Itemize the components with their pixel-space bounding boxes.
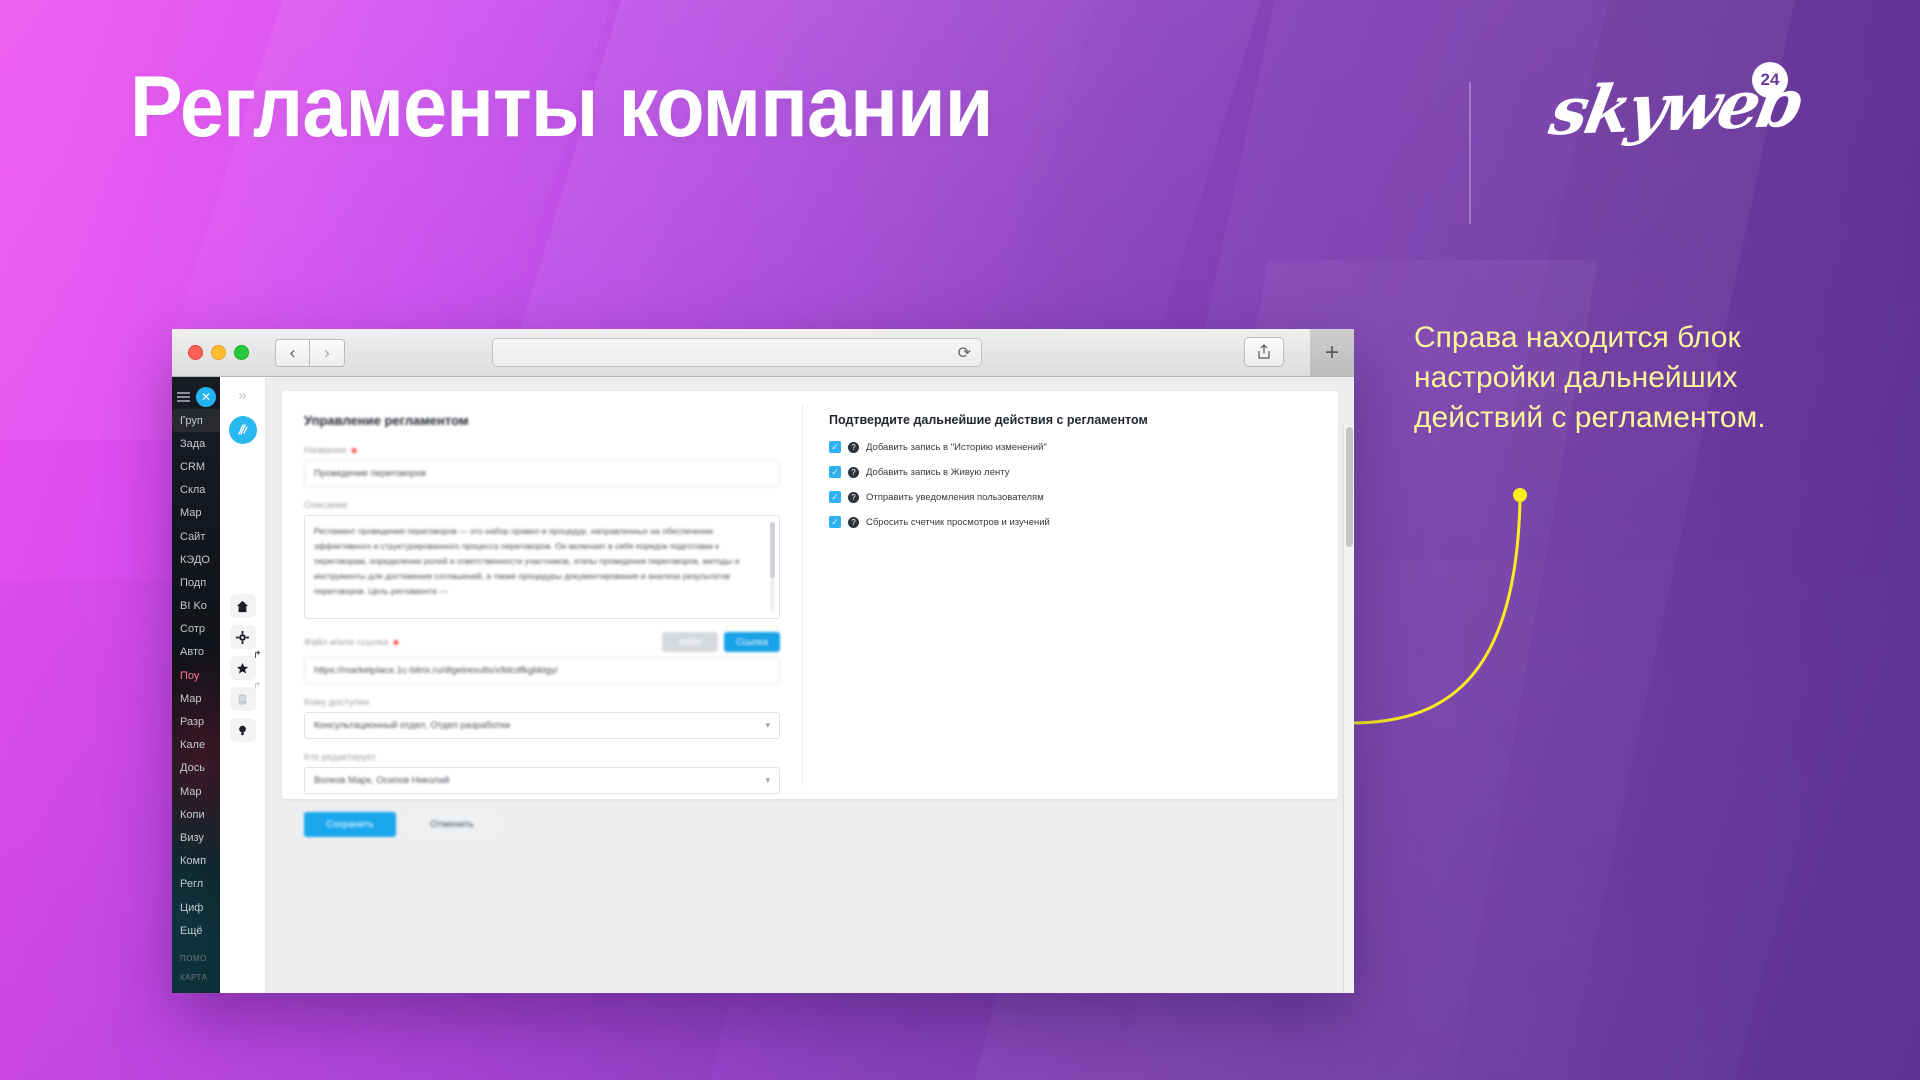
action-label: Сбросить счетчик просмотров и изучений [866,517,1050,528]
sidebar-item[interactable]: Груп [172,409,220,432]
chevron-down-icon: ▾ [765,720,770,731]
description-text: Регламент проведения переговоров — это н… [314,524,763,598]
save-button[interactable]: Сохранить [304,812,396,837]
editors-label: Кто редактирует [304,752,780,763]
access-label: Кому доступен [304,697,780,708]
reload-icon[interactable]: ⟳ [958,343,971,363]
star-icon[interactable]: ↱ [230,656,256,680]
actions-panel: Подтвердите дальнейшие действия с реглам… [803,391,1338,799]
page-scrollbar[interactable] [1343,425,1354,993]
sidebar-item[interactable]: Сайт [172,525,220,548]
external-link-arrow-icon: ↱ [253,681,261,692]
rail-icon-group: ↱ ↱ [230,594,256,742]
name-field-group: Название ● Проведение переговоров [304,444,780,487]
chevron-down-icon: ▾ [765,775,770,786]
sidebar-item[interactable]: Зада [172,432,220,455]
sidebar-item[interactable]: Комп [172,850,220,873]
sidebar-item[interactable]: Регл [172,873,220,896]
description-field-group: Описание Регламент проведения переговоро… [304,500,780,619]
access-field-group: Кому доступен Консультационный отдел, От… [304,697,780,739]
action-row[interactable]: ✓ ? Добавить запись в Живую ленту [829,466,1316,478]
sidebar-item[interactable]: Скла [172,479,220,502]
page-title: Регламенты компании [130,64,992,150]
file-link-label: Файл и/или ссылка ● [304,636,400,648]
back-button[interactable]: ‹ [275,339,310,367]
sidebar-close-button[interactable]: ✕ [196,387,216,407]
sidebar-item[interactable]: Авто [172,641,220,664]
regulation-form: Управление регламентом Название ● Провед… [282,391,802,799]
zoom-window-button[interactable] [234,345,249,360]
new-tab-button[interactable]: + [1310,329,1354,376]
sidebar-item[interactable]: Дось [172,757,220,780]
cancel-button[interactable]: Отменить [406,812,498,837]
action-row[interactable]: ✓ ? Сбросить счетчик просмотров и изучен… [829,516,1316,528]
required-marker: ● [350,444,357,456]
lightbulb-icon[interactable] [230,718,256,742]
sidebar-item[interactable]: Подп [172,571,220,594]
form-actions: Сохранить Отменить [304,812,780,837]
textarea-scrollbar[interactable] [770,522,775,612]
logo-badge-24: 24 [1752,62,1788,98]
checkbox-checked[interactable]: ✓ [829,516,841,528]
sidebar-footer-link[interactable]: ПОМО [180,954,220,963]
external-link-arrow-icon: ↱ [253,650,261,661]
callout-text: Справа находится блок настройки дальнейш… [1414,318,1864,438]
help-icon[interactable]: ? [848,492,859,503]
close-window-button[interactable] [188,345,203,360]
action-label: Добавить запись в "Историю изменений" [866,442,1047,453]
sidebar-item[interactable]: Циф [172,896,220,919]
share-button[interactable] [1244,337,1284,367]
callout-line: Справа находится блок [1414,318,1864,358]
file-link-field-group: Файл и/или ссылка ● Файл Ссылка https://… [304,632,780,684]
checkbox-checked[interactable]: ✓ [829,466,841,478]
checkbox-checked[interactable]: ✓ [829,441,841,453]
sidebar-item[interactable]: CRM [172,455,220,478]
sidebar-footer: ПОМО КАРТА [172,954,220,982]
bitrix-logo-icon [235,422,251,438]
rail-collapse-icon[interactable]: » [238,387,246,404]
rail-avatar[interactable] [229,416,257,444]
sidebar-item[interactable]: BI Ko [172,595,220,618]
action-label: Добавить запись в Живую ленту [866,467,1009,478]
minimize-window-button[interactable] [211,345,226,360]
sidebar-item[interactable]: Копи [172,803,220,826]
menu-burger-icon[interactable] [177,392,190,402]
name-label-text: Название [304,445,346,456]
regulation-card: Управление регламентом Название ● Провед… [282,391,1338,799]
name-label: Название ● [304,444,780,456]
file-link-toggle[interactable]: Файл Ссылка [662,632,780,652]
action-label: Отправить уведомления пользователям [866,492,1044,503]
document-icon[interactable]: ↱ [230,687,256,711]
file-link-label-text: Файл и/или ссылка [304,637,388,648]
page-viewport: ✕ Груп Зада CRM Скла Мар Сайт КЭДО Подп … [172,377,1354,993]
description-textarea[interactable]: Регламент проведения переговоров — это н… [304,515,780,619]
browser-toolbar: ‹ › ⟳ + [172,329,1354,377]
editors-select[interactable]: Волков Марк, Осипов Николай ▾ [304,767,780,794]
share-icon [1257,344,1271,360]
window-traffic-lights[interactable] [188,345,249,360]
sidebar-item[interactable]: Визу [172,826,220,849]
sidebar-item[interactable]: Поу [172,664,220,687]
action-row[interactable]: ✓ ? Добавить запись в "Историю изменений… [829,441,1316,453]
sidebar-item[interactable]: Ещё [172,919,220,942]
gear-icon[interactable] [230,625,256,649]
bitrix-sidebar[interactable]: ✕ Груп Зада CRM Скла Мар Сайт КЭДО Подп … [172,377,220,993]
forward-button[interactable]: › [310,339,345,367]
sidebar-header[interactable]: ✕ [172,381,220,409]
action-row[interactable]: ✓ ? Отправить уведомления пользователям [829,491,1316,503]
name-input[interactable]: Проведение переговоров [304,460,780,487]
sidebar-item[interactable]: Разр [172,710,220,733]
header-divider [1469,82,1471,224]
sidebar-item[interactable]: Сотр [172,618,220,641]
help-icon[interactable]: ? [848,467,859,478]
sidebar-item[interactable]: Кале [172,734,220,757]
file-link-header: Файл и/или ссылка ● Файл Ссылка [304,632,780,652]
form-title: Управление регламентом [304,413,780,428]
help-icon[interactable]: ? [848,517,859,528]
required-marker: ● [392,636,399,648]
access-value: Консультационный отдел, Отдел разработки [314,720,510,731]
page-content: Управление регламентом Название ● Провед… [266,377,1354,993]
help-icon[interactable]: ? [848,442,859,453]
sidebar-item[interactable]: Мар [172,502,220,525]
callout-line: настройки дальнейших [1414,358,1864,398]
checkbox-checked[interactable]: ✓ [829,491,841,503]
access-select[interactable]: Консультационный отдел, Отдел разработки… [304,712,780,739]
sidebar-item[interactable]: Мар [172,780,220,803]
home-icon[interactable] [230,594,256,618]
nav-buttons[interactable]: ‹ › [275,339,345,367]
editors-value: Волков Марк, Осипов Николай [314,775,449,786]
sidebar-item[interactable]: КЭДО [172,548,220,571]
skyweb-logo: skyweb 24 [1552,62,1812,172]
address-bar[interactable]: ⟳ [492,338,982,367]
callout-line: действий с регламентом. [1414,398,1864,438]
sidebar-item[interactable]: Мар [172,687,220,710]
tab-file-button[interactable]: Файл [662,632,718,652]
editors-field-group: Кто редактирует Волков Марк, Осипов Нико… [304,752,780,794]
actions-panel-title: Подтвердите дальнейшие действия с реглам… [829,413,1316,427]
tool-rail: » ↱ [220,377,266,993]
url-input[interactable]: https://marketplace.1c-bitrix.ru/dlgetre… [304,657,780,684]
tab-link-button[interactable]: Ссылка [724,632,780,652]
description-label: Описание [304,500,780,511]
sidebar-footer-link[interactable]: КАРТА [180,973,220,982]
browser-window: ‹ › ⟳ + ✕ Груп Зада CRM Скла Мар Сайт [172,329,1354,993]
